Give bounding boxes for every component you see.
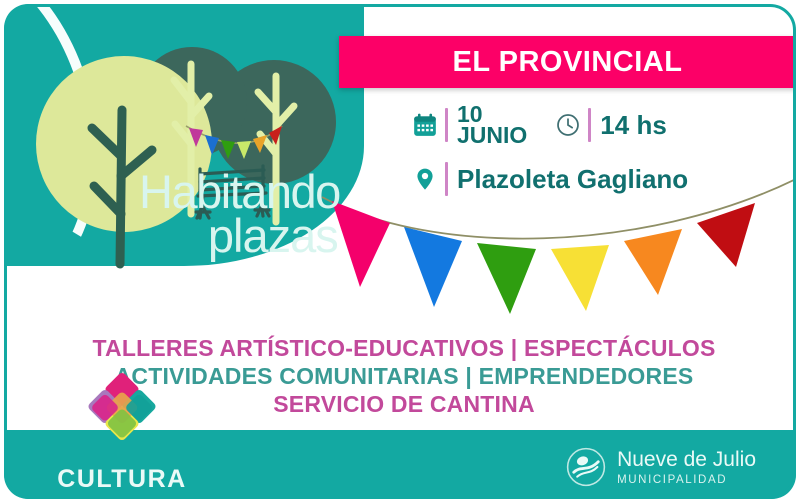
date-divider	[445, 108, 448, 142]
cultura-diamond-icon	[79, 372, 165, 458]
cultura-subtitle: NUEVE DE JULIO	[42, 495, 202, 499]
bunting-flag-yellow	[551, 245, 609, 311]
municipality-subtitle: MUNICIPALIDAD	[617, 474, 756, 486]
cultura-logo: CULTURA NUEVE DE JULIO	[42, 372, 202, 499]
place-item: Plazoleta Gagliano	[412, 162, 688, 196]
time-divider	[588, 108, 591, 142]
date-text-group: 10 JUNIO	[457, 104, 527, 146]
time-text: 14 hs	[600, 110, 667, 141]
clock-icon	[555, 112, 581, 138]
bunting-flag-blue	[404, 227, 462, 307]
event-info-block: 10 JUNIO 14 hs	[412, 104, 688, 196]
wordmark-line-1: Habitando	[139, 170, 340, 214]
bunting-flag-pink	[332, 201, 390, 287]
calendar-icon	[412, 112, 438, 138]
bunting-flag-orange	[624, 229, 682, 295]
cultura-title: CULTURA	[42, 467, 202, 492]
bunting-flag-green	[477, 243, 536, 314]
location-pin-icon	[412, 166, 438, 192]
event-title-text: EL PROVINCIAL	[453, 46, 683, 79]
place-divider	[445, 162, 448, 196]
date-day: 10	[457, 104, 527, 124]
bunting-garland	[314, 179, 796, 319]
activities-line-1: TALLERES ARTÍSTICO-EDUCATIVOS | ESPECTÁC…	[4, 334, 796, 362]
poster-canvas: Habitando plazas EL PROVINCIAL	[0, 0, 800, 503]
place-row: Plazoleta Gagliano	[412, 162, 688, 196]
poster-inner: Habitando plazas EL PROVINCIAL	[4, 4, 796, 499]
wordmark-line-2: plazas	[139, 214, 340, 258]
event-title-banner: EL PROVINCIAL	[339, 36, 796, 88]
municipality-text-group: Nueve de Julio MUNICIPALIDAD	[617, 449, 756, 486]
place-text: Plazoleta Gagliano	[457, 164, 688, 195]
date-item: 10 JUNIO	[412, 104, 527, 146]
date-month: JUNIO	[457, 124, 527, 146]
municipality-logo: Nueve de Julio MUNICIPALIDAD	[565, 446, 756, 488]
habitando-plazas-wordmark: Habitando plazas	[139, 170, 340, 257]
municipality-name: Nueve de Julio	[617, 449, 756, 470]
municipality-emblem-icon	[565, 446, 607, 488]
date-time-row: 10 JUNIO 14 hs	[412, 104, 688, 146]
time-item: 14 hs	[555, 108, 667, 142]
